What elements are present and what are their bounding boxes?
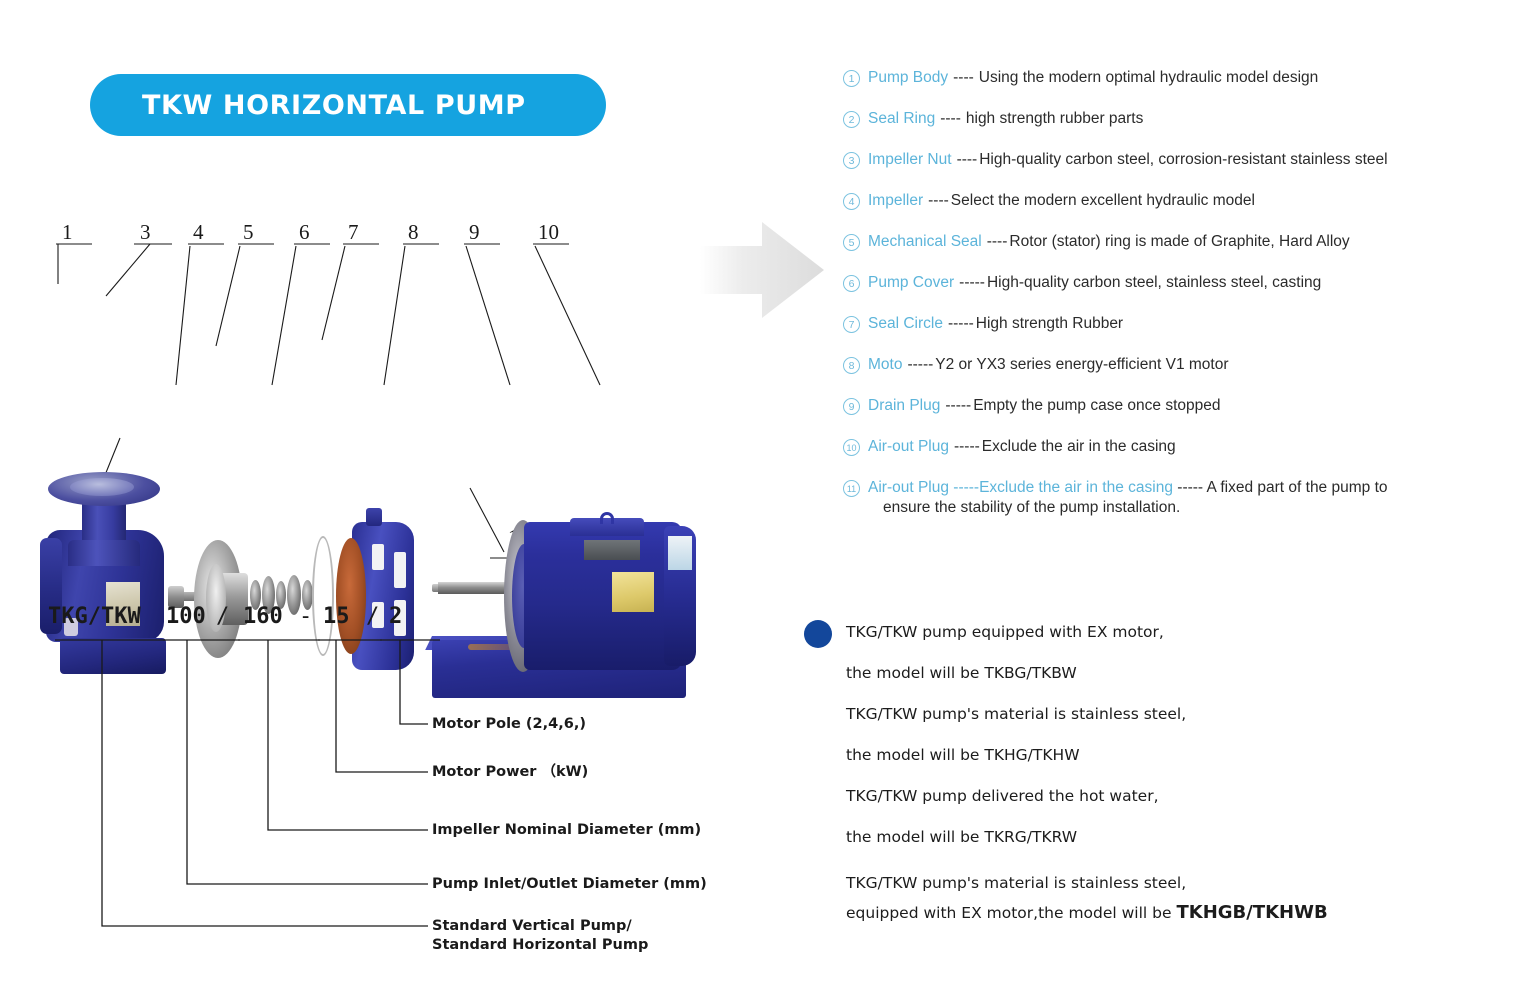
legend-number-10: 10 [843, 439, 860, 456]
pump-cover-lug [366, 508, 382, 526]
note-line: the model will be TKBG/TKBW [800, 653, 1460, 694]
note-line: the model will be TKHG/TKHW [800, 735, 1460, 776]
legend-separator: ----- [959, 273, 985, 293]
legend-number-3: 3 [843, 152, 860, 169]
note-line: the model will be TKRG/TKRW [800, 817, 1460, 858]
note-line-last: equipped with EX motor,the model will be… [800, 898, 1460, 928]
legend-number-5: 5 [843, 234, 860, 251]
parts-legend-item: 4 Impeller ---- Select the modern excell… [843, 191, 1503, 232]
legend-part-desc: High-quality carbon steel, stainless ste… [987, 273, 1321, 293]
legend-number-9: 9 [843, 398, 860, 415]
parts-legend-item: 5 Mechanical Seal ---- Rotor (stator) ri… [843, 232, 1503, 273]
legend-part-desc: high strength rubber parts [966, 109, 1144, 129]
legend-separator: ---- [953, 68, 974, 88]
parts-legend-item: 1 Pump Body ---- Using the modern optima… [843, 68, 1503, 109]
parts-legend-item: 9 Drain Plug ----- Empty the pump case o… [843, 396, 1503, 437]
legend-part-desc: Empty the pump case once stopped [973, 396, 1220, 416]
product-spec-sheet: TKW HORIZONTAL PUMP 1 3 4 5 6 7 8 9 10 2… [0, 0, 1513, 1000]
model-label-motor-pole: Motor Pole (2,4,6,) [432, 715, 586, 734]
note-line: TKG/TKW pump's material is stainless ste… [800, 858, 1460, 898]
legend-item-11-body: Air-out Plug -----Exclude the air in the… [868, 478, 1388, 518]
legend-separator: ---- [957, 150, 978, 170]
parts-legend-item: 7 Seal Circle ----- High strength Rubber [843, 314, 1503, 355]
pump-cover-window-3 [394, 552, 406, 588]
model-label-inlet-dia: Pump Inlet/Outlet Diameter (mm) [432, 875, 707, 894]
model-label-impeller-dia: Impeller Nominal Diameter (mm) [432, 821, 701, 840]
page-title: TKW HORIZONTAL PUMP [90, 90, 526, 121]
exploded-view-diagram: 1 3 4 5 6 7 8 9 10 2 11 [0, 200, 700, 580]
legend-number-2: 2 [843, 111, 860, 128]
model-label-standard-pump-2: Standard Horizontal Pump [432, 936, 648, 955]
legend-part-name: Impeller Nut [868, 150, 952, 170]
right-arrow-icon [700, 218, 824, 322]
legend-separator: ----- [907, 355, 933, 375]
parts-legend-item: 3 Impeller Nut ---- High-quality carbon … [843, 150, 1503, 191]
legend-separator: ---- [987, 232, 1008, 252]
legend-separator: ----- [945, 396, 971, 416]
legend-part-name: Moto [868, 355, 902, 375]
legend-separator: ---- [928, 191, 949, 211]
parts-legend-item: 8 Moto ----- Y2 or YX3 series energy-eff… [843, 355, 1503, 396]
motor-lifting-hook [600, 512, 614, 524]
pump-cover-window-1 [372, 544, 384, 570]
bullet-dot-icon [804, 620, 832, 648]
legend-part-name: Air-out Plug -----Exclude the air in the… [868, 479, 1173, 496]
legend-part-name: Seal Circle [868, 314, 943, 334]
legend-part-name: Seal Ring [868, 109, 935, 129]
pump-outlet-flange-bore [70, 478, 134, 496]
legend-part-desc: Rotor (stator) ring is made of Graphite,… [1009, 232, 1349, 252]
model-label-standard-pump: Standard Vertical Pump/ [432, 917, 632, 936]
legend-part-desc: High strength Rubber [976, 314, 1123, 334]
page-title-banner: TKW HORIZONTAL PUMP [90, 74, 606, 136]
legend-number-1: 1 [843, 70, 860, 87]
legend-part-name: Pump Cover [868, 273, 954, 293]
legend-separator: ----- [954, 437, 980, 457]
legend-part-desc-line2: ensure the stability of the pump install… [883, 498, 1388, 518]
note-line: TKG/TKW pump delivered the hot water, [800, 776, 1460, 817]
motor-top-label [584, 540, 640, 560]
model-variant-notes: TKG/TKW pump equipped with EX motor, the… [800, 612, 1460, 928]
parts-legend-item: 10 Air-out Plug ----- Exclude the air in… [843, 437, 1503, 478]
legend-part-desc: A fixed part of the pump to [1207, 479, 1388, 496]
legend-part-desc: Select the modern excellent hydraulic mo… [951, 191, 1255, 211]
parts-legend-item: 2 Seal Ring ---- high strength rubber pa… [843, 109, 1503, 150]
legend-number-7: 7 [843, 316, 860, 333]
legend-part-name: Pump Body [868, 68, 948, 88]
legend-number-8: 8 [843, 357, 860, 374]
legend-part-desc: Using the modern optimal hydraulic model… [979, 68, 1318, 88]
parts-legend-list: 1 Pump Body ---- Using the modern optima… [843, 68, 1503, 518]
legend-number-4: 4 [843, 193, 860, 210]
legend-separator: ----- [948, 314, 974, 334]
model-label-motor-power: Motor Power （kW) [432, 763, 588, 782]
note-line: TKG/TKW pump's material is stainless ste… [800, 694, 1460, 735]
legend-part-name: Drain Plug [868, 396, 940, 416]
legend-separator: ---- [940, 109, 961, 129]
legend-separator: ----- [1177, 479, 1203, 496]
note-line: TKG/TKW pump equipped with EX motor, [800, 612, 1460, 653]
parts-legend-item: 11 Air-out Plug -----Exclude the air in … [843, 478, 1503, 518]
legend-part-name: Impeller [868, 191, 923, 211]
legend-number-6: 6 [843, 275, 860, 292]
motor-side-sticker [668, 536, 692, 570]
note-last-model: TKHGB/TKHWB [1176, 902, 1327, 923]
legend-part-desc: Exclude the air in the casing [982, 437, 1176, 457]
legend-part-desc: Y2 or YX3 series energy-efficient V1 mot… [935, 355, 1228, 375]
legend-part-name: Mechanical Seal [868, 232, 982, 252]
model-code-diagram: TKG/TKW 100 / 160 - 15 / 2 Mo [0, 596, 720, 976]
parts-legend-item: 6 Pump Cover ----- High-quality carbon s… [843, 273, 1503, 314]
legend-part-name: Air-out Plug [868, 437, 949, 457]
legend-part-desc: High-quality carbon steel, corrosion-res… [979, 150, 1387, 170]
legend-number-11: 11 [843, 480, 860, 497]
note-last-prefix: equipped with EX motor,the model will be [846, 904, 1176, 922]
